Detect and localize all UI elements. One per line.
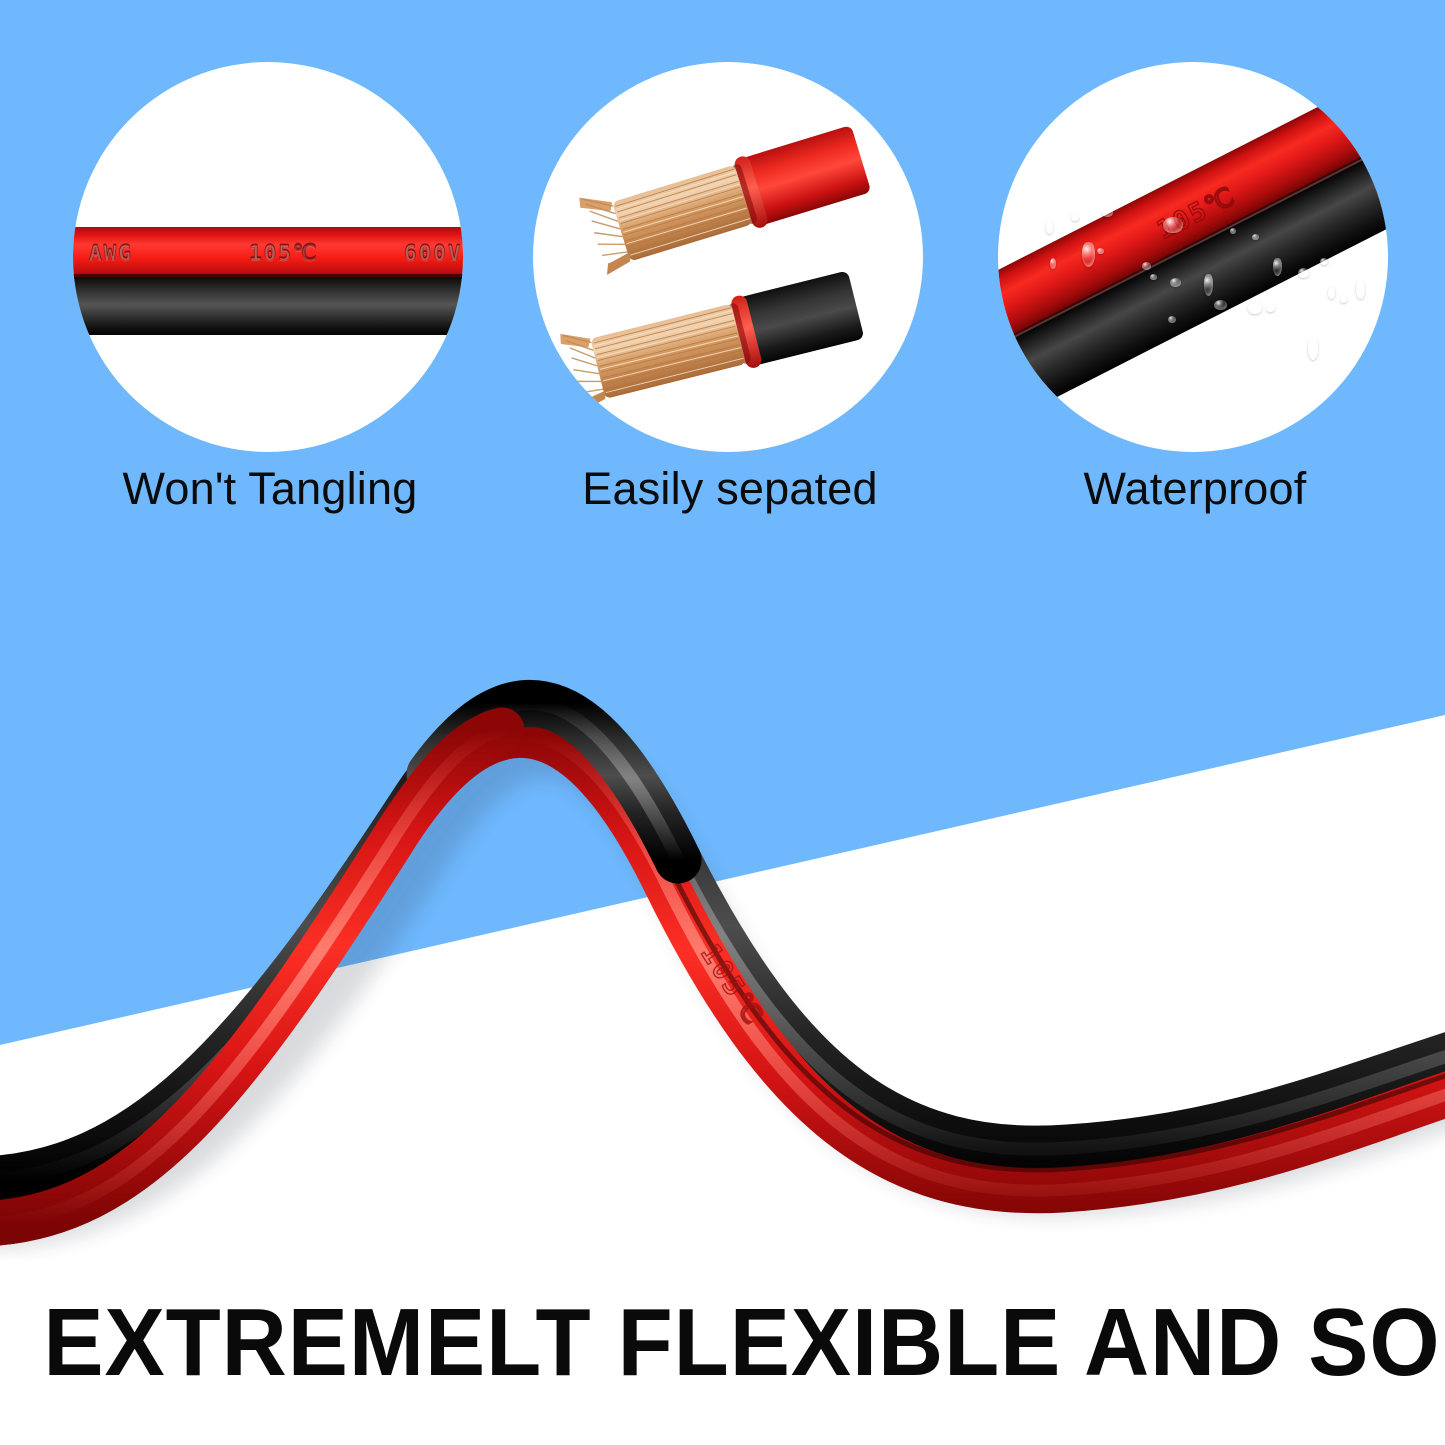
water-droplet <box>1097 248 1104 254</box>
water-droplet <box>1248 302 1262 314</box>
flexible-wire-wave-photo: 105℃ 105℃ <box>0 560 1445 1260</box>
water-droplet <box>1230 228 1236 234</box>
water-droplet <box>1168 316 1176 323</box>
water-droplet <box>1308 338 1318 360</box>
stripped-copper-strands-photo <box>533 62 923 452</box>
water-droplet <box>1071 214 1079 221</box>
page-headline: EXTREMELT FLEXIBLE AND SOFT <box>43 1292 1401 1394</box>
feature-caption-wont-tangling: Won't Tangling <box>35 466 505 511</box>
feature-item-wont-tangling: AWG 105℃ 600V Won't Tangling <box>35 0 505 540</box>
wire-marking-voltage: 600V <box>404 241 463 265</box>
water-droplet <box>1214 300 1227 310</box>
copper-bundle-black <box>558 263 865 412</box>
water-droplet <box>1082 242 1095 267</box>
water-droplet <box>1273 258 1282 276</box>
wire-marking-awg: AWG <box>89 241 133 265</box>
water-droplet <box>1050 258 1056 269</box>
water-droplet <box>1163 217 1183 233</box>
water-droplet <box>1046 220 1053 234</box>
feature-row: AWG 105℃ 600V Won't Tangling <box>0 0 1445 540</box>
water-droplet <box>1204 274 1213 296</box>
water-droplet <box>1142 262 1151 270</box>
water-droplet <box>1356 280 1365 299</box>
water-droplet <box>1252 234 1259 240</box>
wire-marking-temp: 105℃ <box>249 241 319 265</box>
water-droplet <box>1170 278 1181 287</box>
water-droplet <box>1102 208 1113 217</box>
straight-twin-wire-photo: AWG 105℃ 600V <box>73 62 463 452</box>
water-droplet <box>1298 268 1309 278</box>
feature-item-waterproof: 105℃ <box>960 0 1430 540</box>
product-feature-banner: AWG 105℃ 600V Won't Tangling <box>0 0 1445 1445</box>
feature-item-easily-separated: Easily sepated <box>495 0 965 540</box>
wire-end-shade-left <box>73 227 75 335</box>
water-droplets-on-wire-photo: 105℃ <box>998 62 1388 452</box>
copper-bundle-red <box>577 115 872 276</box>
feature-caption-easily-separated: Easily sepated <box>495 466 965 511</box>
copper-strands-svg <box>533 62 923 452</box>
feature-circle-wont-tangling: AWG 105℃ 600V <box>73 62 463 452</box>
water-droplet <box>1266 304 1275 312</box>
feature-caption-waterproof: Waterproof <box>960 466 1430 511</box>
waterproof-wire-svg: 105℃ <box>998 62 1388 452</box>
water-droplet <box>1150 274 1157 280</box>
water-droplet <box>1340 296 1347 303</box>
black-conductor-jacket <box>73 277 463 335</box>
feature-circle-easily-separated <box>533 62 923 452</box>
twin-wire-segment: AWG 105℃ 600V <box>73 227 463 335</box>
water-droplet <box>1328 286 1335 299</box>
feature-circle-waterproof: 105℃ <box>998 62 1388 452</box>
water-droplet <box>1320 258 1328 265</box>
